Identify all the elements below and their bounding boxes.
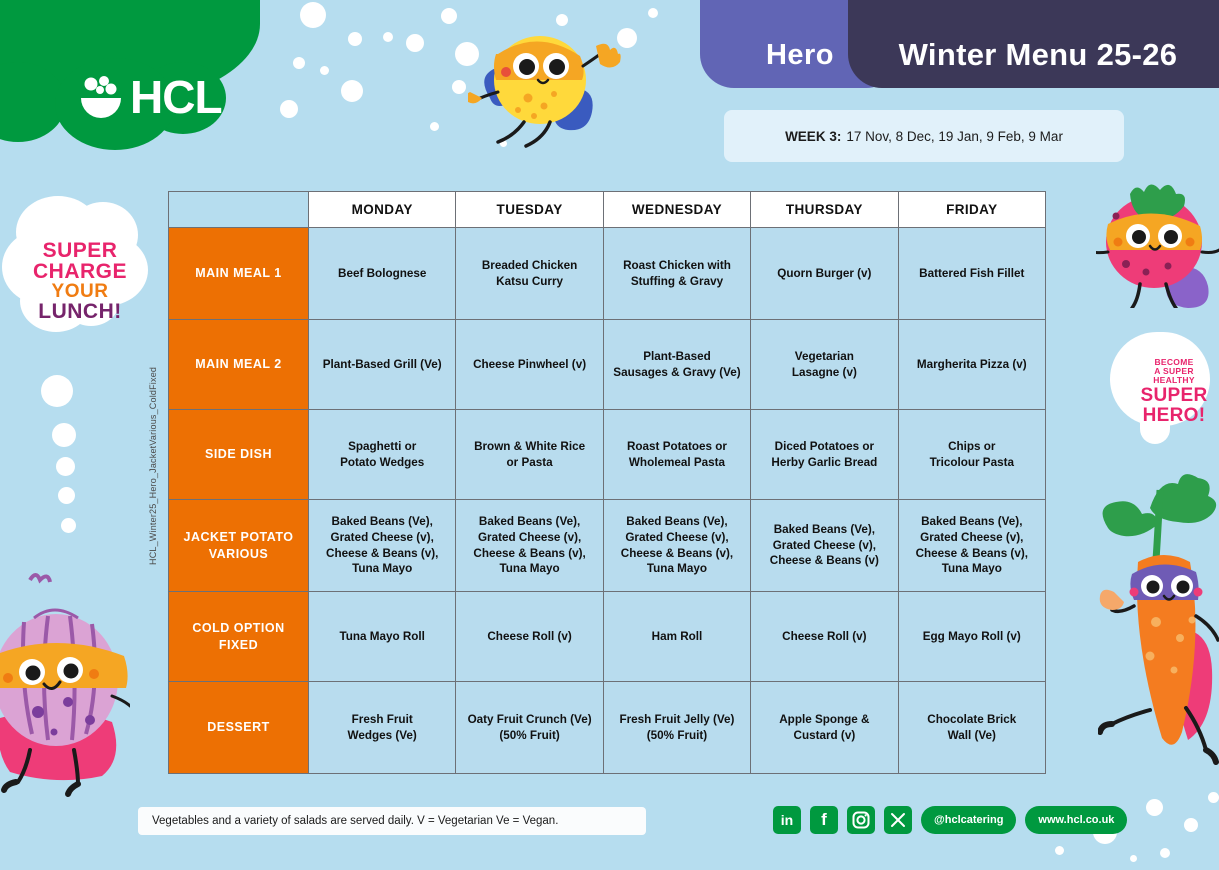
cell-main2-thursday: VegetarianLasagne (v) — [751, 320, 898, 410]
cell-main1-tuesday: Breaded ChickenKatsu Curry — [456, 228, 603, 320]
cell-dessert-tuesday: Oaty Fruit Crunch (Ve)(50% Fruit) — [456, 682, 603, 774]
table-row: DESSERT Fresh FruitWedges (Ve) Oaty Frui… — [169, 682, 1046, 774]
table-row: MAIN MEAL 1 Beef Bolognese Breaded Chick… — [169, 228, 1046, 320]
handle-pill[interactable]: @hclcatering — [921, 806, 1016, 834]
instagram-icon[interactable] — [847, 806, 875, 834]
onion-superhero — [0, 572, 130, 820]
salad-bowl-icon — [78, 75, 124, 119]
table-row: SIDE DISH Spaghetti orPotato Wedges Brow… — [169, 410, 1046, 500]
cell-side-wednesday: Roast Potatoes orWholemeal Pasta — [603, 410, 750, 500]
day-header-monday: MONDAY — [309, 192, 456, 228]
week-label: WEEK 3: — [785, 129, 841, 144]
table-header-row: MONDAY TUESDAY WEDNESDAY THURSDAY FRIDAY — [169, 192, 1046, 228]
carrot-superhero — [1098, 470, 1219, 770]
table-row: COLD OPTIONFIXED Tuna Mayo Roll Cheese R… — [169, 592, 1046, 682]
cell-main2-tuesday: Cheese Pinwheel (v) — [456, 320, 603, 410]
menu-poster: HCL Hero Winter Menu 25-26 WEEK 3: 17 No… — [0, 0, 1219, 870]
facebook-icon[interactable]: f — [810, 806, 838, 834]
supercharge-line-1: SUPER — [20, 240, 140, 261]
cell-main1-thursday: Quorn Burger (v) — [751, 228, 898, 320]
cell-dessert-wednesday: Fresh Fruit Jelly (Ve)(50% Fruit) — [603, 682, 750, 774]
hcl-logo-text: HCL — [130, 74, 222, 120]
superhero-speech-bubble: BECOME A SUPER HEALTHY SUPER HERO! — [1110, 332, 1210, 444]
supercharge-speech-bubble: SUPER CHARGE YOUR LUNCH! — [2, 196, 152, 346]
linkedin-glyph: in — [781, 812, 793, 828]
cell-jacket-thursday: Baked Beans (Ve),Grated Cheese (v),Chees… — [751, 500, 898, 592]
cell-jacket-monday: Baked Beans (Ve),Grated Cheese (v),Chees… — [309, 500, 456, 592]
hcl-logo-inner: HCL — [78, 74, 222, 120]
day-header-friday: FRIDAY — [898, 192, 1045, 228]
cell-side-monday: Spaghetti orPotato Wedges — [309, 410, 456, 500]
menu-title-tab: Winter Menu 25-26 — [848, 0, 1219, 88]
cell-jacket-tuesday: Baked Beans (Ve),Grated Cheese (v),Chees… — [456, 500, 603, 592]
artwork-code-label: HCL_Winter25_Hero_JacketVarious_ColdFixe… — [148, 367, 158, 565]
row-label-main-meal-1: MAIN MEAL 1 — [169, 228, 309, 320]
hero-tab-label: Hero — [766, 39, 834, 72]
instagram-glyph — [852, 811, 870, 829]
dietary-note-text: Vegetables and a variety of salads are s… — [152, 815, 558, 827]
cell-cold-wednesday: Ham Roll — [603, 592, 750, 682]
cell-side-tuesday: Brown & White Riceor Pasta — [456, 410, 603, 500]
week-badge: WEEK 3: 17 Nov, 8 Dec, 19 Jan, 9 Feb, 9 … — [724, 110, 1124, 162]
table-row: JACKET POTATOVARIOUS Baked Beans (Ve),Gr… — [169, 500, 1046, 592]
linkedin-icon[interactable]: in — [773, 806, 801, 834]
supercharge-line-2: CHARGE — [20, 261, 140, 282]
cell-side-friday: Chips orTricolour Pasta — [898, 410, 1045, 500]
table-row: MAIN MEAL 2 Plant-Based Grill (Ve) Chees… — [169, 320, 1046, 410]
cell-cold-thursday: Cheese Roll (v) — [751, 592, 898, 682]
x-twitter-icon[interactable] — [884, 806, 912, 834]
menu-table: MONDAY TUESDAY WEDNESDAY THURSDAY FRIDAY… — [168, 191, 1046, 774]
superhero-text: BECOME A SUPER HEALTHY SUPER HERO! — [1124, 358, 1219, 427]
superhero-line-5: HERO! — [1124, 406, 1219, 427]
cell-jacket-wednesday: Baked Beans (Ve),Grated Cheese (v),Chees… — [603, 500, 750, 592]
cell-dessert-thursday: Apple Sponge &Custard (v) — [751, 682, 898, 774]
supercharge-line-3: YOUR — [20, 282, 140, 301]
supercharge-text: SUPER CHARGE YOUR LUNCH! — [20, 240, 140, 322]
row-label-side-dish: SIDE DISH — [169, 410, 309, 500]
superhero-line-4: SUPER — [1124, 386, 1219, 407]
cell-main1-monday: Beef Bolognese — [309, 228, 456, 320]
lemon-superhero — [468, 18, 628, 148]
row-label-cold-option: COLD OPTIONFIXED — [169, 592, 309, 682]
row-label-dessert: DESSERT — [169, 682, 309, 774]
dietary-note: Vegetables and a variety of salads are s… — [138, 807, 646, 835]
social-links: in f @hclcatering www.hcl.co.uk — [773, 806, 1127, 834]
cell-main1-wednesday: Roast Chicken withStuffing & Gravy — [603, 228, 750, 320]
table-corner-cell — [169, 192, 309, 228]
day-header-thursday: THURSDAY — [751, 192, 898, 228]
cell-main1-friday: Battered Fish Fillet — [898, 228, 1045, 320]
handle-text: @hclcatering — [934, 814, 1003, 826]
cell-cold-tuesday: Cheese Roll (v) — [456, 592, 603, 682]
cell-main2-friday: Margherita Pizza (v) — [898, 320, 1045, 410]
menu-title-label: Winter Menu 25-26 — [899, 37, 1178, 73]
strawberry-superhero — [1096, 172, 1219, 308]
cell-main2-monday: Plant-Based Grill (Ve) — [309, 320, 456, 410]
cell-main2-wednesday: Plant-BasedSausages & Gravy (Ve) — [603, 320, 750, 410]
cell-cold-monday: Tuna Mayo Roll — [309, 592, 456, 682]
day-header-tuesday: TUESDAY — [456, 192, 603, 228]
cell-side-thursday: Diced Potatoes orHerby Garlic Bread — [751, 410, 898, 500]
supercharge-line-4: LUNCH! — [20, 301, 140, 322]
cell-dessert-friday: Chocolate BrickWall (Ve) — [898, 682, 1045, 774]
day-header-wednesday: WEDNESDAY — [603, 192, 750, 228]
cell-jacket-friday: Baked Beans (Ve),Grated Cheese (v),Chees… — [898, 500, 1045, 592]
website-pill[interactable]: www.hcl.co.uk — [1025, 806, 1127, 834]
row-label-main-meal-2: MAIN MEAL 2 — [169, 320, 309, 410]
week-dates: 17 Nov, 8 Dec, 19 Jan, 9 Feb, 9 Mar — [846, 129, 1063, 144]
row-label-jacket-potato: JACKET POTATOVARIOUS — [169, 500, 309, 592]
cell-cold-friday: Egg Mayo Roll (v) — [898, 592, 1045, 682]
x-glyph — [890, 812, 906, 828]
cell-dessert-monday: Fresh FruitWedges (Ve) — [309, 682, 456, 774]
facebook-glyph: f — [821, 810, 827, 830]
website-text: www.hcl.co.uk — [1038, 814, 1114, 826]
